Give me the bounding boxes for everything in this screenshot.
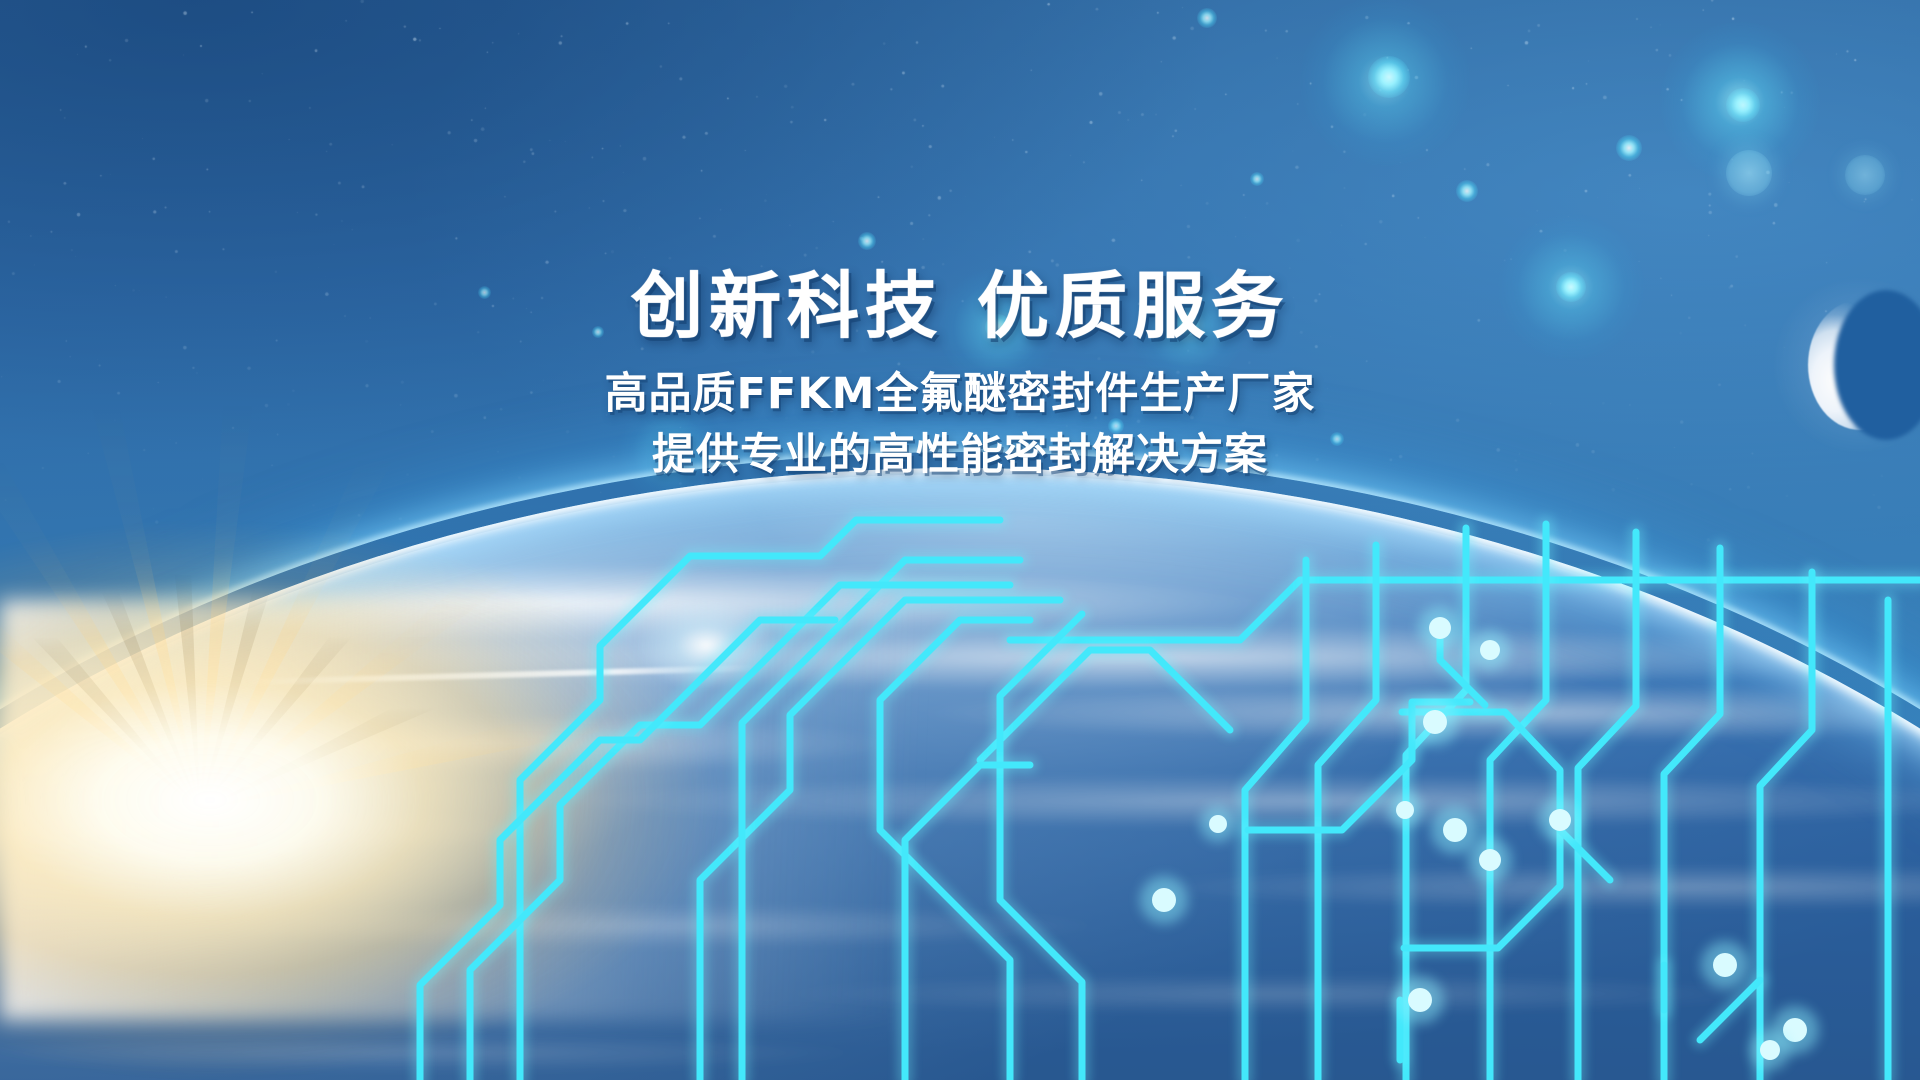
headline-right: 优质服务: [977, 264, 1289, 348]
page-title: 创新科技优质服务: [0, 268, 1920, 344]
earth-sphere: [0, 474, 1920, 1080]
lens-flare-spot: [636, 600, 776, 690]
hero-banner: 创新科技优质服务 高品质FFKM全氟醚密封件生产厂家 提供专业的高性能密封解决方…: [0, 0, 1920, 1080]
headline-left: 创新科技: [631, 264, 943, 348]
cloud-bands: [0, 474, 1920, 1080]
banner-copy: 创新科技优质服务 高品质FFKM全氟醚密封件生产厂家 提供专业的高性能密封解决方…: [0, 268, 1920, 484]
subtitle-line-2: 提供专业的高性能密封解决方案: [0, 427, 1920, 484]
subtitle-line-1: 高品质FFKM全氟醚密封件生产厂家: [0, 366, 1920, 423]
